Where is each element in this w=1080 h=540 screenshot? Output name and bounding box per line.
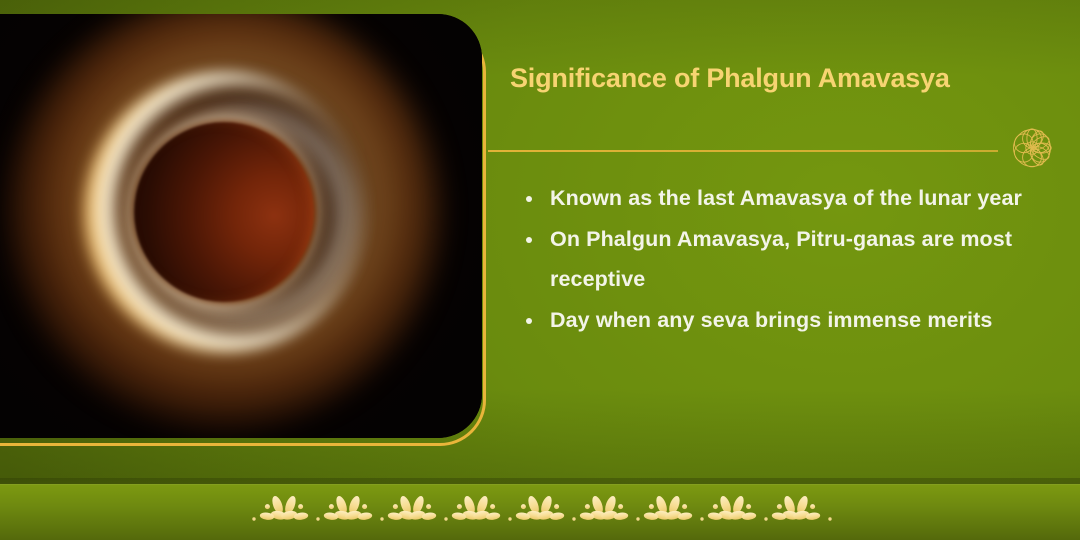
content-column: Significance of Phalgun Amavasya bbox=[506, 0, 1060, 540]
title-divider bbox=[488, 142, 1060, 160]
eclipse-photo-panel bbox=[0, 14, 482, 438]
list-item: Day when any seva brings immense merits bbox=[520, 300, 1040, 340]
divider-line bbox=[488, 150, 998, 152]
slide-root: Significance of Phalgun Amavasya bbox=[0, 0, 1080, 540]
moon-limb-highlight bbox=[131, 119, 317, 305]
lotus-petal-motif bbox=[0, 484, 1080, 540]
list-item: On Phalgun Amavasya, Pitru-ganas are mos… bbox=[520, 219, 1040, 299]
mandala-rosette-icon bbox=[1004, 120, 1060, 176]
list-item: Known as the last Amavasya of the lunar … bbox=[520, 178, 1040, 218]
bullet-list: Known as the last Amavasya of the lunar … bbox=[520, 178, 1040, 341]
page-title: Significance of Phalgun Amavasya bbox=[510, 62, 1050, 94]
lotus-border-ornament bbox=[0, 484, 1080, 540]
